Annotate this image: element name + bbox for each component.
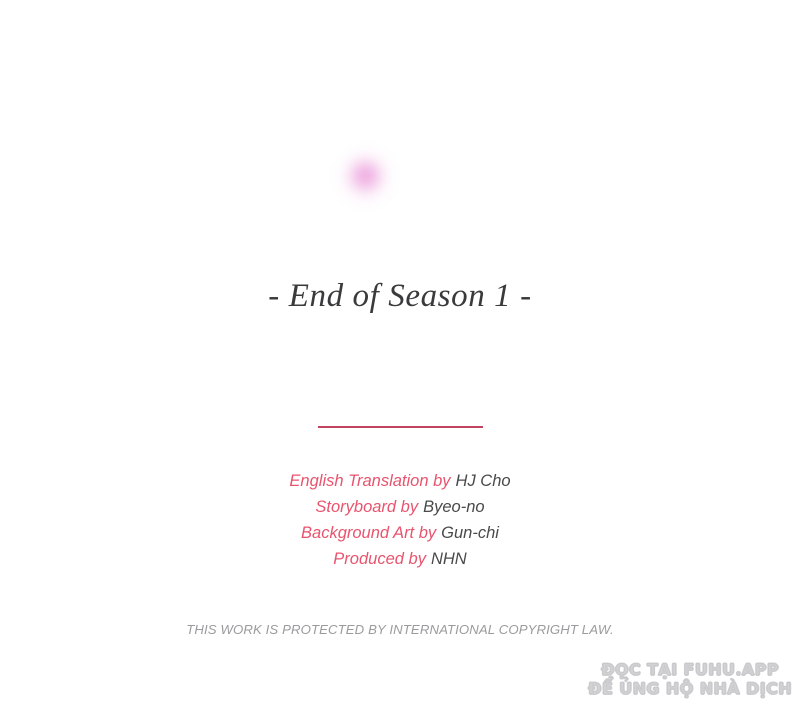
pink-blur-blob-core-icon: [352, 162, 380, 192]
credit-name-value: Gun-chi: [441, 524, 499, 542]
credit-role-label: English Translation by: [289, 472, 450, 490]
credits-block: English Translation byHJ Cho Storyboard …: [0, 468, 800, 572]
credit-name-value: HJ Cho: [456, 472, 511, 490]
credit-role-label: Produced by: [333, 550, 426, 568]
page-title: - End of Season 1 -: [0, 278, 800, 315]
section-divider: [318, 426, 483, 428]
credit-line: Background Art byGun-chi: [0, 520, 800, 546]
comic-end-card-page: - End of Season 1 - English Translation …: [0, 0, 800, 708]
credit-line: Produced byNHN: [0, 546, 800, 572]
pink-blur-blob-icon: [340, 152, 392, 204]
copyright-notice: THIS WORK IS PROTECTED BY INTERNATIONAL …: [0, 622, 800, 637]
credit-line: Storyboard byByeo-no: [0, 494, 800, 520]
watermark-line-1: ĐỌC TẠI FUHU.APP: [588, 660, 792, 679]
watermark-line-2: ĐỂ ỦNG HỘ NHÀ DỊCH: [588, 679, 792, 698]
credit-line: English Translation byHJ Cho: [0, 468, 800, 494]
credit-name-value: Byeo-no: [423, 498, 484, 516]
credit-name-value: NHN: [431, 550, 467, 568]
credit-role-label: Background Art by: [301, 524, 436, 542]
credit-role-label: Storyboard by: [315, 498, 418, 516]
site-watermark: ĐỌC TẠI FUHU.APP ĐỂ ỦNG HỘ NHÀ DỊCH: [588, 660, 792, 698]
